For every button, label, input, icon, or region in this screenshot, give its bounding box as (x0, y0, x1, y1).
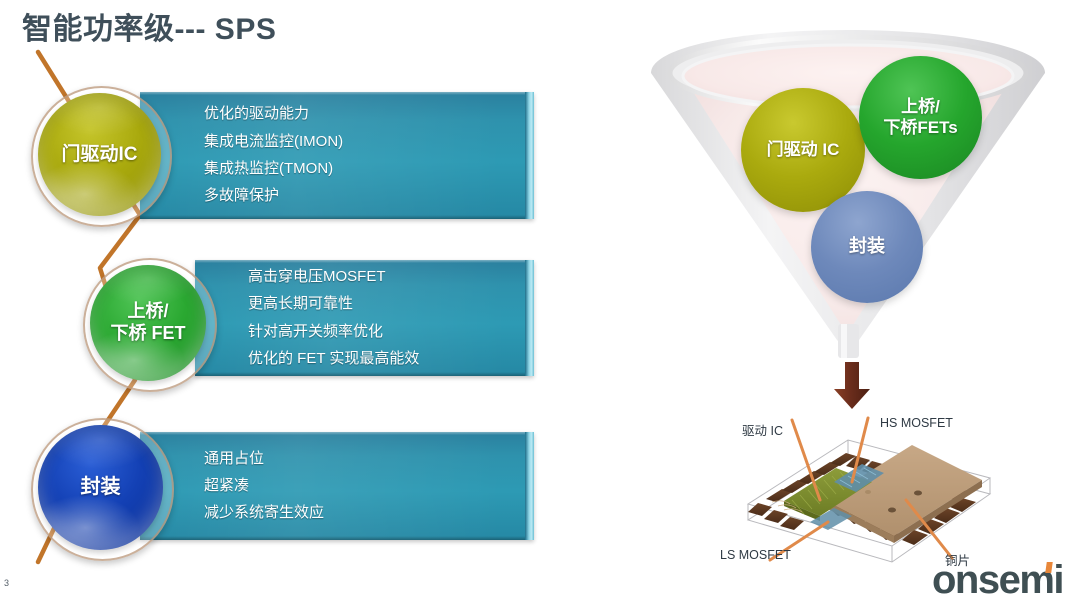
banner-bevel-right (525, 432, 534, 540)
chip-label-hs-mosfet: HS MOSFET (880, 416, 953, 430)
chip-label-ls-mosfet: LS MOSFET (720, 548, 791, 562)
banner-bullet-list: 优化的驱动能力 集成电流监控(IMON) 集成热监控(TMON) 多故障保护 (204, 92, 520, 219)
funnel-circle-label-line2: 下桥FETs (883, 118, 957, 138)
funnel-circle-gate-driver-ic[interactable]: 门驱动 IC (741, 88, 865, 212)
slide-canvas: 智能功率级--- SPS 3 优化的驱动能力 集成电流监控(IMON) 集成热监… (0, 0, 1080, 606)
bullet-text: 针对高开关频率优化 (248, 320, 520, 344)
bullet-text: 更高长期可靠性 (248, 292, 520, 316)
bullet-text: 优化的驱动能力 (204, 102, 520, 126)
stage-circle-gate-driver-ic[interactable]: 门驱动IC (38, 93, 161, 216)
banner-bevel-right (525, 260, 534, 376)
banner-bevel-right (525, 92, 534, 219)
funnel-diagram: 门驱动 IC 上桥/ 下桥FETs 封装 (645, 28, 1065, 378)
stage-circle-package[interactable]: 封装 (38, 425, 163, 550)
bullet-text: 减少系统寄生效应 (204, 501, 520, 525)
stage-banner-package: 通用占位 超紧凑 减少系统寄生效应 (140, 432, 534, 540)
funnel-circle-hs-ls-fets[interactable]: 上桥/ 下桥FETs (859, 56, 982, 179)
bullet-text: 超紧凑 (204, 474, 520, 498)
banner-bullet-list: 通用占位 超紧凑 减少系统寄生效应 (204, 432, 520, 540)
stage-circle-label: 封装 (81, 475, 121, 499)
stage-banner-gate-driver-ic: 优化的驱动能力 集成电流监控(IMON) 集成热监控(TMON) 多故障保护 (140, 92, 534, 219)
funnel-circle-label: 封装 (849, 236, 885, 258)
bullet-text: 集成热监控(TMON) (204, 157, 520, 181)
bullet-text: 优化的 FET 实现最高能效 (248, 347, 520, 371)
chip-label-driver-ic: 驱动 IC (742, 420, 783, 439)
funnel-circle-package[interactable]: 封装 (811, 191, 923, 303)
page-title: 智能功率级--- SPS (22, 4, 276, 48)
bullet-text: 高击穿电压MOSFET (248, 265, 520, 289)
stage-circle-label-line2: 下桥 FET (111, 323, 186, 345)
funnel-circle-label: 门驱动 IC (767, 140, 840, 160)
funnel-circle-label-line1: 上桥/ (901, 97, 940, 117)
stage-banner-hs-ls-fet: 高击穿电压MOSFET 更高长期可靠性 针对高开关频率优化 优化的 FET 实现… (195, 260, 534, 376)
stage-circle-label: 门驱动IC (61, 143, 137, 166)
bullet-text: 通用占位 (204, 447, 520, 471)
banner-bullet-list: 高击穿电压MOSFET 更高长期可靠性 针对高开关频率优化 优化的 FET 实现… (248, 260, 520, 376)
stage-circle-hs-ls-fet[interactable]: 上桥/ 下桥 FET (90, 265, 206, 381)
stage-circle-label-line1: 上桥/ (127, 301, 168, 323)
page-number: 3 (4, 578, 9, 588)
bullet-text: 集成电流监控(IMON) (204, 130, 520, 154)
onsemi-logo: onsemi (932, 560, 1063, 600)
bullet-text: 多故障保护 (204, 184, 520, 208)
